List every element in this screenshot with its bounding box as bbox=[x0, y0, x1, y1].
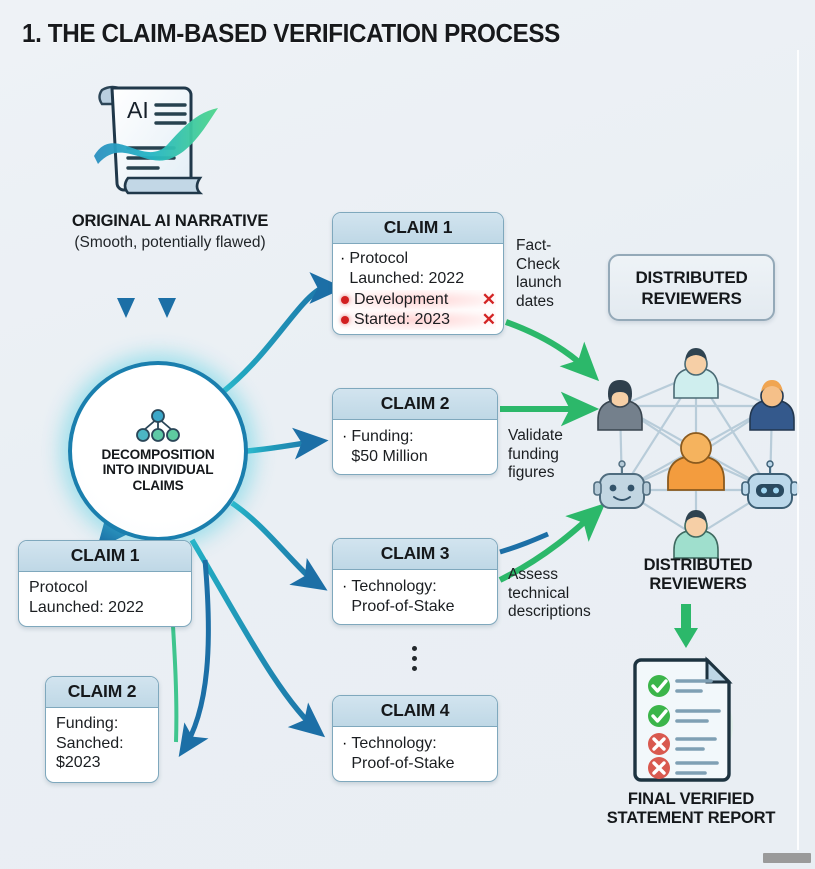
secondary-claim-card-2[interactable]: CLAIM 2 Funding: Sanched: $2023 bbox=[45, 676, 159, 783]
decomposition-label: DECOMPOSITION INTO INDIVIDUAL CLAIMS bbox=[102, 447, 215, 493]
hierarchy-tree-icon bbox=[132, 409, 184, 443]
claim-card-2-text: Funding: $50 Million bbox=[351, 427, 427, 466]
red-dot-icon bbox=[341, 296, 349, 304]
claim-card-3[interactable]: CLAIM 3 · Technology: Proof-of-Stake bbox=[332, 538, 498, 625]
panel-divider bbox=[797, 50, 799, 850]
claim-card-1-bullet: · Protocol Launched: 2022 bbox=[340, 249, 496, 288]
decomposition-node[interactable]: DECOMPOSITION INTO INDIVIDUAL CLAIMS bbox=[68, 361, 248, 541]
bullet-dot-icon: · bbox=[342, 577, 347, 616]
annotation-validate-funding: Validate funding figures bbox=[508, 427, 596, 483]
claim-card-1-text: Protocol Launched: 2022 bbox=[349, 249, 464, 288]
arrow-decomp-to-claim2 bbox=[247, 441, 322, 451]
claim-card-4-text: Technology: Proof-of-Stake bbox=[351, 734, 454, 773]
claim-card-2-header: CLAIM 2 bbox=[333, 389, 497, 420]
claim-card-2[interactable]: CLAIM 2 · Funding: $50 Million bbox=[332, 388, 498, 475]
secondary-claim-card-2-text: Funding: Sanched: $2023 bbox=[56, 714, 148, 773]
check-icon bbox=[648, 705, 670, 727]
original-narrative-title: ORIGINAL AI NARRATIVE bbox=[20, 212, 320, 231]
bullet-dot-icon: · bbox=[342, 734, 347, 773]
wire-claim3-stub bbox=[500, 534, 548, 552]
reviewer-person-bottom bbox=[674, 510, 718, 558]
claim-card-4-header: CLAIM 4 bbox=[333, 696, 497, 727]
reviewer-person-left bbox=[598, 380, 642, 430]
final-report-caption: FINAL VERIFIED STATEMENT REPORT bbox=[586, 790, 796, 828]
reviewer-person-right bbox=[750, 380, 794, 430]
claim-card-4[interactable]: CLAIM 4 · Technology: Proof-of-Stake bbox=[332, 695, 498, 782]
claim-card-1-flag-1: Development ✕ bbox=[340, 290, 496, 310]
distributed-reviewers-badge[interactable]: DISTRIBUTED REVIEWERS bbox=[608, 254, 775, 321]
claim-card-1-flag-1-text: Development bbox=[354, 290, 477, 310]
page-title: 1. THE CLAIM-BASED VERIFICATION PROCESS bbox=[22, 20, 560, 49]
arrow-claim1-to-reviewers bbox=[506, 322, 594, 376]
reviewer-person-top bbox=[674, 348, 718, 398]
bullet-dot-icon: · bbox=[342, 427, 347, 466]
cross-icon: ✕ bbox=[482, 290, 496, 310]
claim-card-1-flag-2-text: Started: 2023 bbox=[354, 310, 477, 330]
arrow-decomp-to-claim1 bbox=[224, 288, 338, 391]
claim-card-1-flag-2: Started: 2023 ✕ bbox=[340, 310, 496, 330]
arrow-decomp-to-claim3 bbox=[232, 503, 322, 587]
secondary-claim-card-1-header: CLAIM 1 bbox=[19, 541, 191, 572]
distributed-reviewers-caption: DISTRIBUTED REVIEWERS bbox=[598, 556, 798, 594]
claim-card-4-bullet: · Technology: Proof-of-Stake bbox=[342, 734, 488, 773]
svg-text:AI: AI bbox=[127, 97, 149, 123]
arrow-reviewers-to-report bbox=[674, 604, 698, 648]
distributed-reviewers-badge-label: DISTRIBUTED REVIEWERS bbox=[635, 267, 747, 309]
claim-card-3-bullet: · Technology: Proof-of-Stake bbox=[342, 577, 488, 616]
scrollbar-thumb[interactable] bbox=[763, 853, 811, 863]
ai-document-icon: AI bbox=[88, 78, 238, 206]
claims-ellipsis-icon bbox=[412, 646, 417, 671]
claim-card-1-header: CLAIM 1 bbox=[333, 213, 503, 244]
secondary-claim-card-1[interactable]: CLAIM 1 Protocol Launched: 2022 bbox=[18, 540, 192, 627]
secondary-claim-card-1-text: Protocol Launched: 2022 bbox=[29, 578, 181, 617]
claim-card-3-text: Technology: Proof-of-Stake bbox=[351, 577, 454, 616]
claim-card-2-bullet: · Funding: $50 Million bbox=[342, 427, 488, 466]
reviewer-network bbox=[590, 348, 802, 563]
check-icon bbox=[648, 675, 670, 697]
secondary-claim-card-2-header: CLAIM 2 bbox=[46, 677, 158, 708]
red-dot-icon bbox=[341, 316, 349, 324]
arrow-decomp-to-claim4 bbox=[192, 540, 320, 733]
reviewer-person-center bbox=[668, 433, 724, 490]
arrow-narrative-to-decomposition bbox=[117, 262, 176, 318]
diagram-canvas: 1. THE CLAIM-BASED VERIFICATION PROCESS bbox=[0, 0, 815, 869]
verified-report-icon bbox=[631, 652, 739, 786]
original-narrative-subtitle: (Smooth, potentially flawed) bbox=[20, 234, 320, 252]
reviewer-robot-right bbox=[742, 461, 798, 508]
annotation-fact-check: Fact- Check launch dates bbox=[516, 237, 600, 311]
cross-icon: ✕ bbox=[482, 310, 496, 330]
claim-card-3-header: CLAIM 3 bbox=[333, 539, 497, 570]
reviewer-robot-left bbox=[594, 461, 650, 508]
bullet-dot-icon: · bbox=[340, 249, 345, 288]
claim-card-1[interactable]: CLAIM 1 · Protocol Launched: 2022 Develo… bbox=[332, 212, 504, 335]
